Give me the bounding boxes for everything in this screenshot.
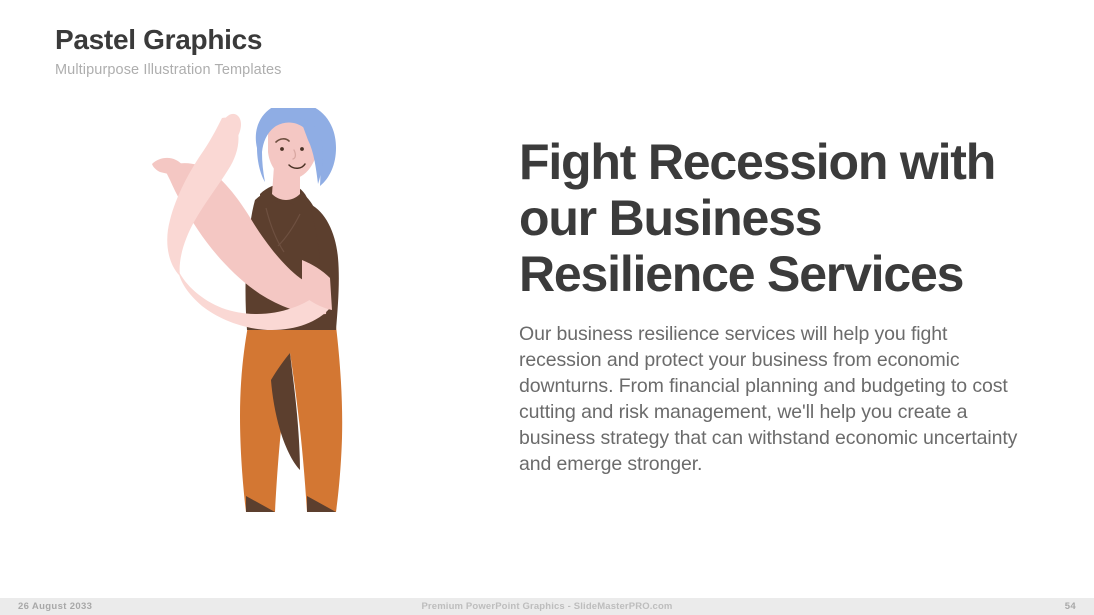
footer-credit: Premium PowerPoint Graphics - SlideMaste…: [0, 601, 1094, 612]
footer-page-number: 54: [1065, 601, 1076, 612]
pointing-woman-illustration: [150, 108, 410, 528]
illustration-svg: [150, 108, 410, 528]
right-eye: [300, 147, 304, 151]
body-paragraph: Our business resilience services will he…: [519, 322, 1034, 478]
text-column: Fight Recession with our Business Resili…: [519, 134, 1039, 478]
slide-canvas: Pastel Graphics Multipurpose Illustratio…: [0, 0, 1094, 615]
page-subtitle: Multipurpose Illustration Templates: [55, 62, 475, 79]
left-eye: [280, 147, 284, 151]
page-title: Pastel Graphics: [55, 24, 475, 56]
footer-bar: 26 August 2033 Premium PowerPoint Graphi…: [0, 598, 1094, 615]
brand-header: Pastel Graphics Multipurpose Illustratio…: [55, 24, 475, 80]
headline: Fight Recession with our Business Resili…: [519, 134, 1009, 302]
